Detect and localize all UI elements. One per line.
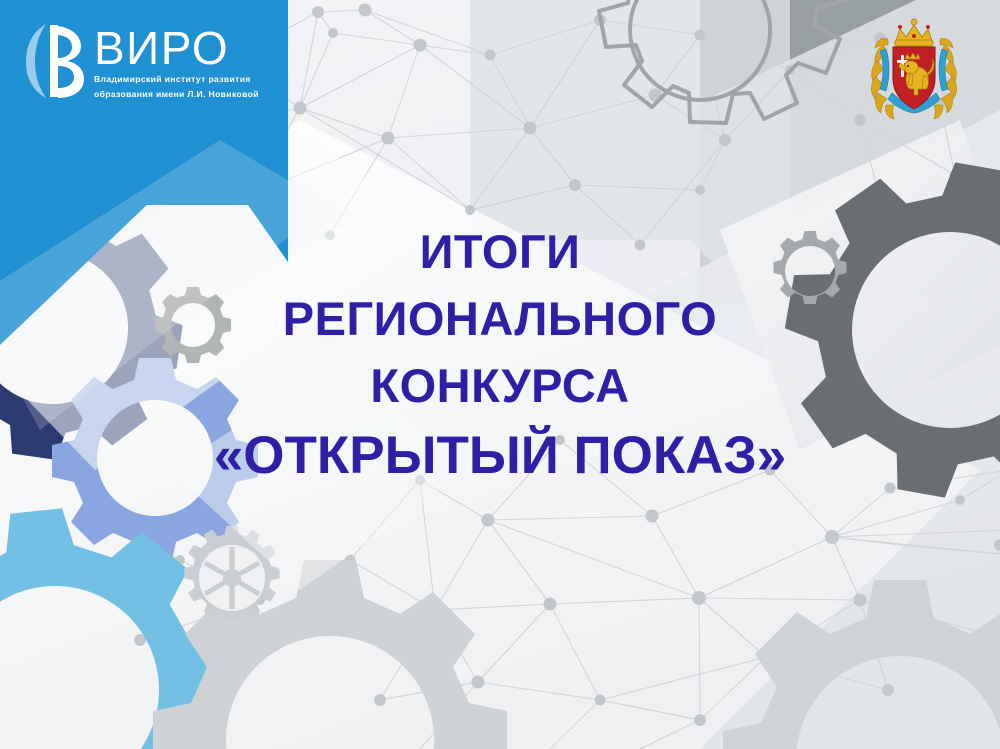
poster-canvas: ВИРО Владимирский институт развития обра…: [0, 0, 1000, 749]
vladimir-oblast-coat-of-arms-icon: [866, 17, 962, 121]
background-decoration: [0, 0, 1000, 749]
